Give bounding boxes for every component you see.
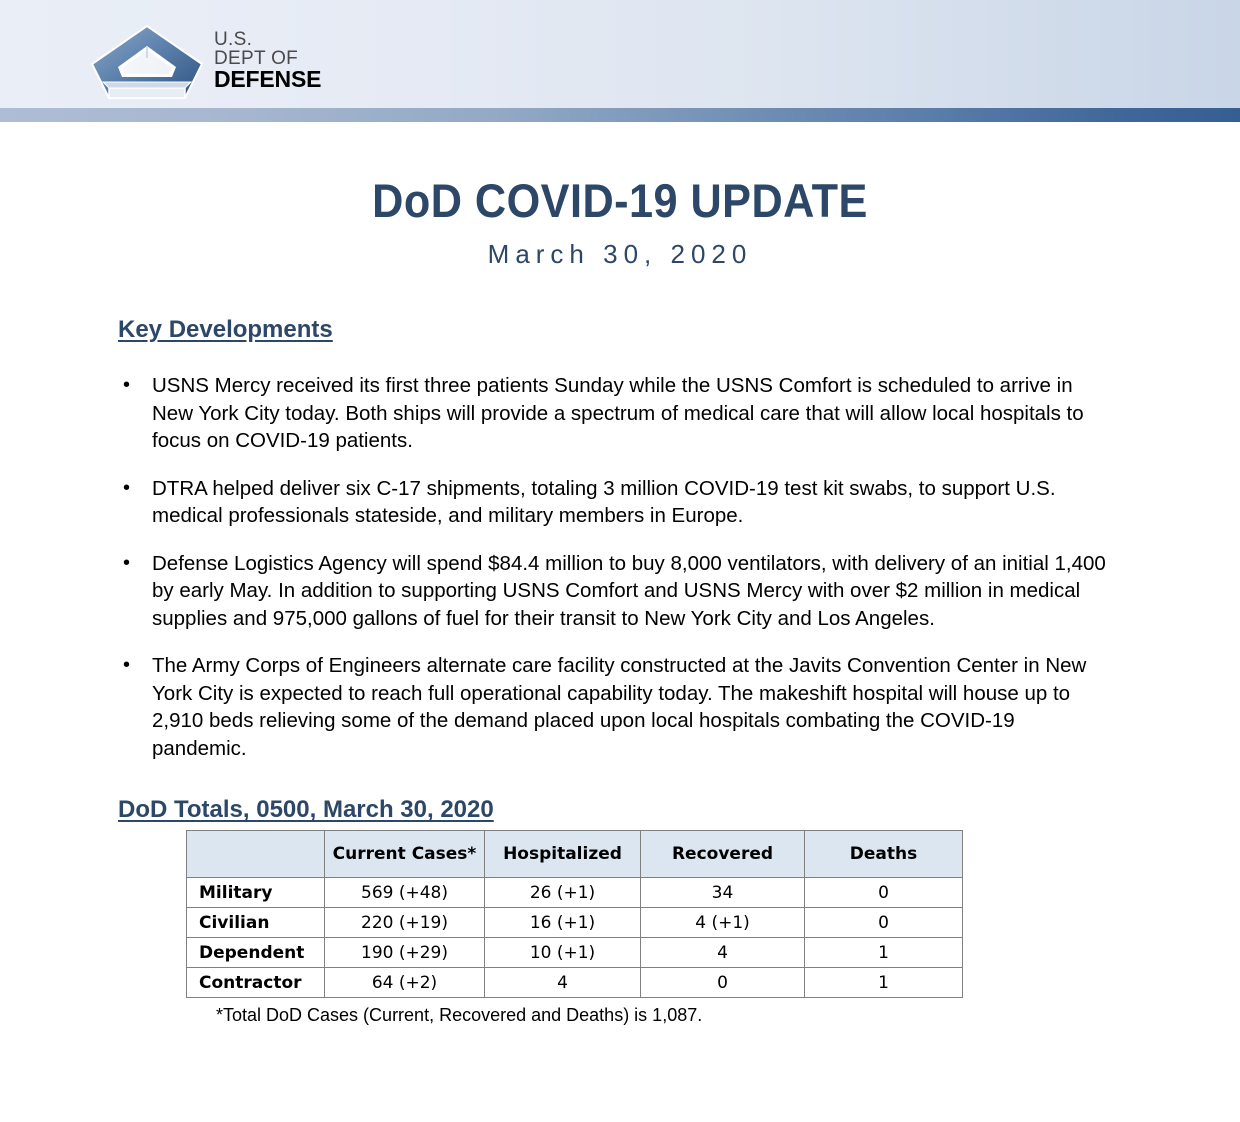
table-cell-hospitalized: 16 (+1) xyxy=(485,908,641,938)
list-item: • Defense Logistics Agency will spend $8… xyxy=(118,550,1108,633)
section-heading-dod-totals: DoD Totals, 0500, March 30, 2020 xyxy=(118,796,1240,824)
table-cell-deaths: 1 xyxy=(805,938,963,968)
table-cell-current-cases: 220 (+19) xyxy=(325,908,485,938)
list-item: • The Army Corps of Engineers alternate … xyxy=(118,652,1108,762)
dod-logo-wordmark: U.S. DEPT OF DEFENSE xyxy=(214,22,321,91)
table-cell-hospitalized: 10 (+1) xyxy=(485,938,641,968)
table-row-label: Civilian xyxy=(187,908,325,938)
table-row-label: Military xyxy=(187,878,325,908)
logo-line-us: U.S. xyxy=(214,30,321,49)
table-row: Dependent 190 (+29) 10 (+1) 4 1 xyxy=(187,938,963,968)
table-col-header-deaths: Deaths xyxy=(805,831,963,878)
list-item-text: USNS Mercy received its first three pati… xyxy=(152,372,1108,455)
bullet-icon: • xyxy=(118,372,152,455)
bullet-icon: • xyxy=(118,550,152,633)
page-date: March 30, 2020 xyxy=(0,239,1240,270)
key-developments-list: • USNS Mercy received its first three pa… xyxy=(0,372,1240,762)
table-row: Civilian 220 (+19) 16 (+1) 4 (+1) 0 xyxy=(187,908,963,938)
logo-line-defense: DEFENSE xyxy=(214,68,321,91)
page-title: DoD COVID-19 UPDATE xyxy=(50,176,1191,225)
table-cell-deaths: 0 xyxy=(805,908,963,938)
dod-totals-table: Current Cases* Hospitalized Recovered De… xyxy=(186,830,963,998)
table-cell-recovered: 34 xyxy=(641,878,805,908)
table-row-label: Dependent xyxy=(187,938,325,968)
table-cell-deaths: 1 xyxy=(805,968,963,998)
table-row: Military 569 (+48) 26 (+1) 34 0 xyxy=(187,878,963,908)
table-cell-recovered: 4 xyxy=(641,938,805,968)
table-cell-current-cases: 64 (+2) xyxy=(325,968,485,998)
list-item-text: DTRA helped deliver six C-17 shipments, … xyxy=(152,475,1108,530)
pentagon-logo-icon xyxy=(88,22,206,102)
title-block: DoD COVID-19 UPDATE March 30, 2020 xyxy=(0,176,1240,270)
list-item: • USNS Mercy received its first three pa… xyxy=(118,372,1108,455)
table-cell-current-cases: 190 (+29) xyxy=(325,938,485,968)
document-header: U.S. DEPT OF DEFENSE xyxy=(0,0,1240,108)
table-cell-current-cases: 569 (+48) xyxy=(325,878,485,908)
list-item-text: The Army Corps of Engineers alternate ca… xyxy=(152,652,1108,762)
table-col-header-recovered: Recovered xyxy=(641,831,805,878)
list-item: • DTRA helped deliver six C-17 shipments… xyxy=(118,475,1108,530)
table-cell-recovered: 0 xyxy=(641,968,805,998)
table-row: Contractor 64 (+2) 4 0 1 xyxy=(187,968,963,998)
table-cell-hospitalized: 26 (+1) xyxy=(485,878,641,908)
table-cell-recovered: 4 (+1) xyxy=(641,908,805,938)
table-cell-hospitalized: 4 xyxy=(485,968,641,998)
header-accent-band xyxy=(0,108,1240,122)
dod-logo: U.S. DEPT OF DEFENSE xyxy=(88,22,321,102)
table-footnote: *Total DoD Cases (Current, Recovered and… xyxy=(216,1005,1240,1026)
list-item-text: Defense Logistics Agency will spend $84.… xyxy=(152,550,1108,633)
table-col-header-current-cases: Current Cases* xyxy=(325,831,485,878)
table-cell-deaths: 0 xyxy=(805,878,963,908)
table-header-row: Current Cases* Hospitalized Recovered De… xyxy=(187,831,963,878)
table-row-label: Contractor xyxy=(187,968,325,998)
bullet-icon: • xyxy=(118,475,152,530)
bullet-icon: • xyxy=(118,652,152,762)
table-col-header-blank xyxy=(187,831,325,878)
header-spacer xyxy=(0,122,1240,128)
section-heading-key-developments: Key Developments xyxy=(118,316,1240,344)
table-col-header-hospitalized: Hospitalized xyxy=(485,831,641,878)
